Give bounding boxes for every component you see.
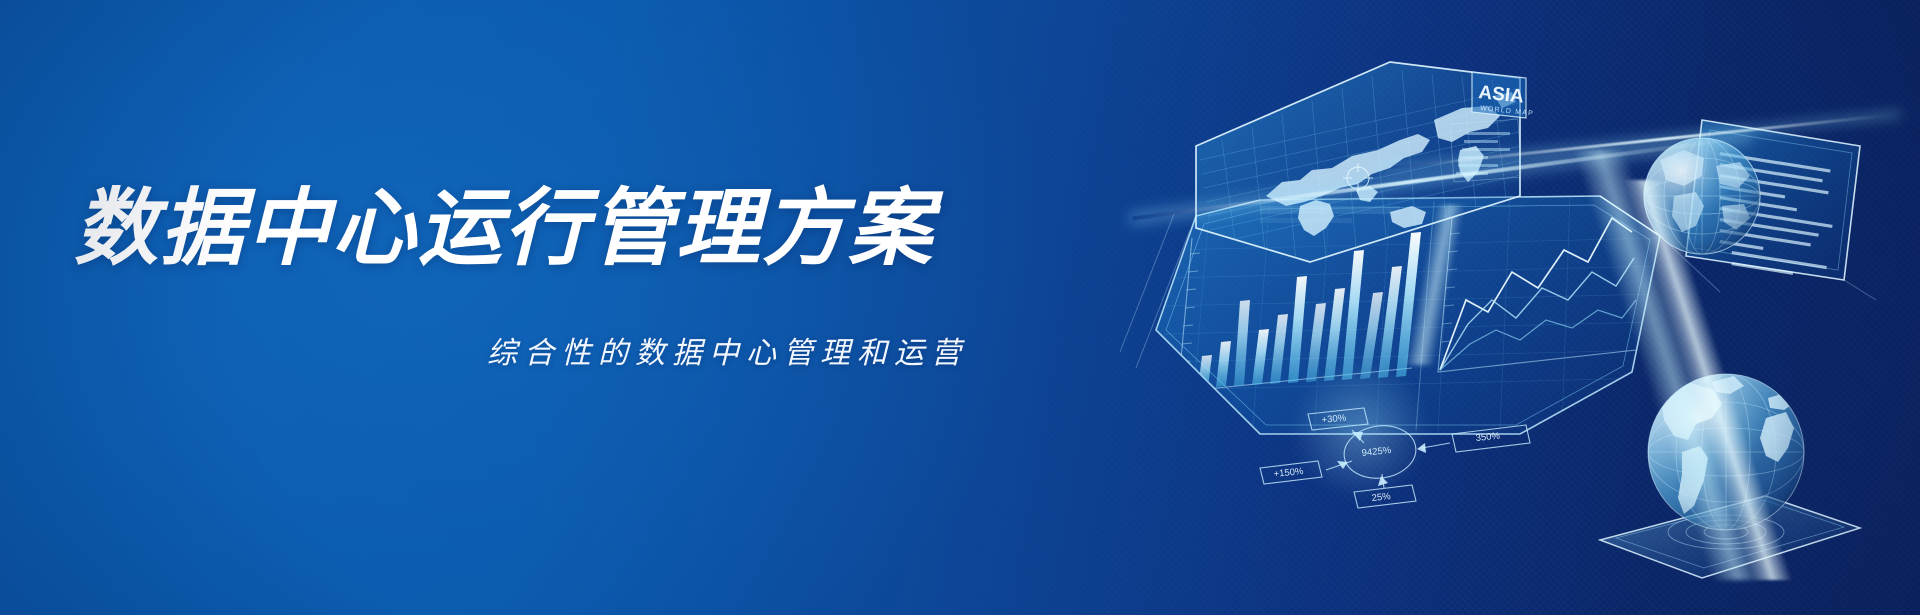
wireframe-globe-small — [1644, 138, 1760, 254]
hero-banner: +30% 9425% +150% 25% 350% — [0, 0, 1920, 615]
globe-main — [1648, 374, 1804, 530]
banner-subtitle: 综合性的数据中心管理和运营 — [487, 336, 968, 372]
asia-label-tab: ASIA WORLD MAP — [1472, 72, 1534, 118]
banner-title: 数据中心运行管理方案 — [74, 186, 934, 272]
hud-illustration: +30% 9425% +150% 25% 350% — [960, 0, 1920, 615]
svg-text:350%: 350% — [1475, 430, 1501, 444]
banner-text-block: 数据中心运行管理方案 综合性的数据中心管理和运营 — [0, 0, 1060, 615]
svg-text:25%: 25% — [1371, 491, 1392, 504]
svg-text:9425%: 9425% — [1361, 445, 1392, 459]
svg-text:+150%: +150% — [1273, 466, 1304, 480]
hud-vector-graphics: +30% 9425% +150% 25% 350% — [960, 0, 1920, 615]
